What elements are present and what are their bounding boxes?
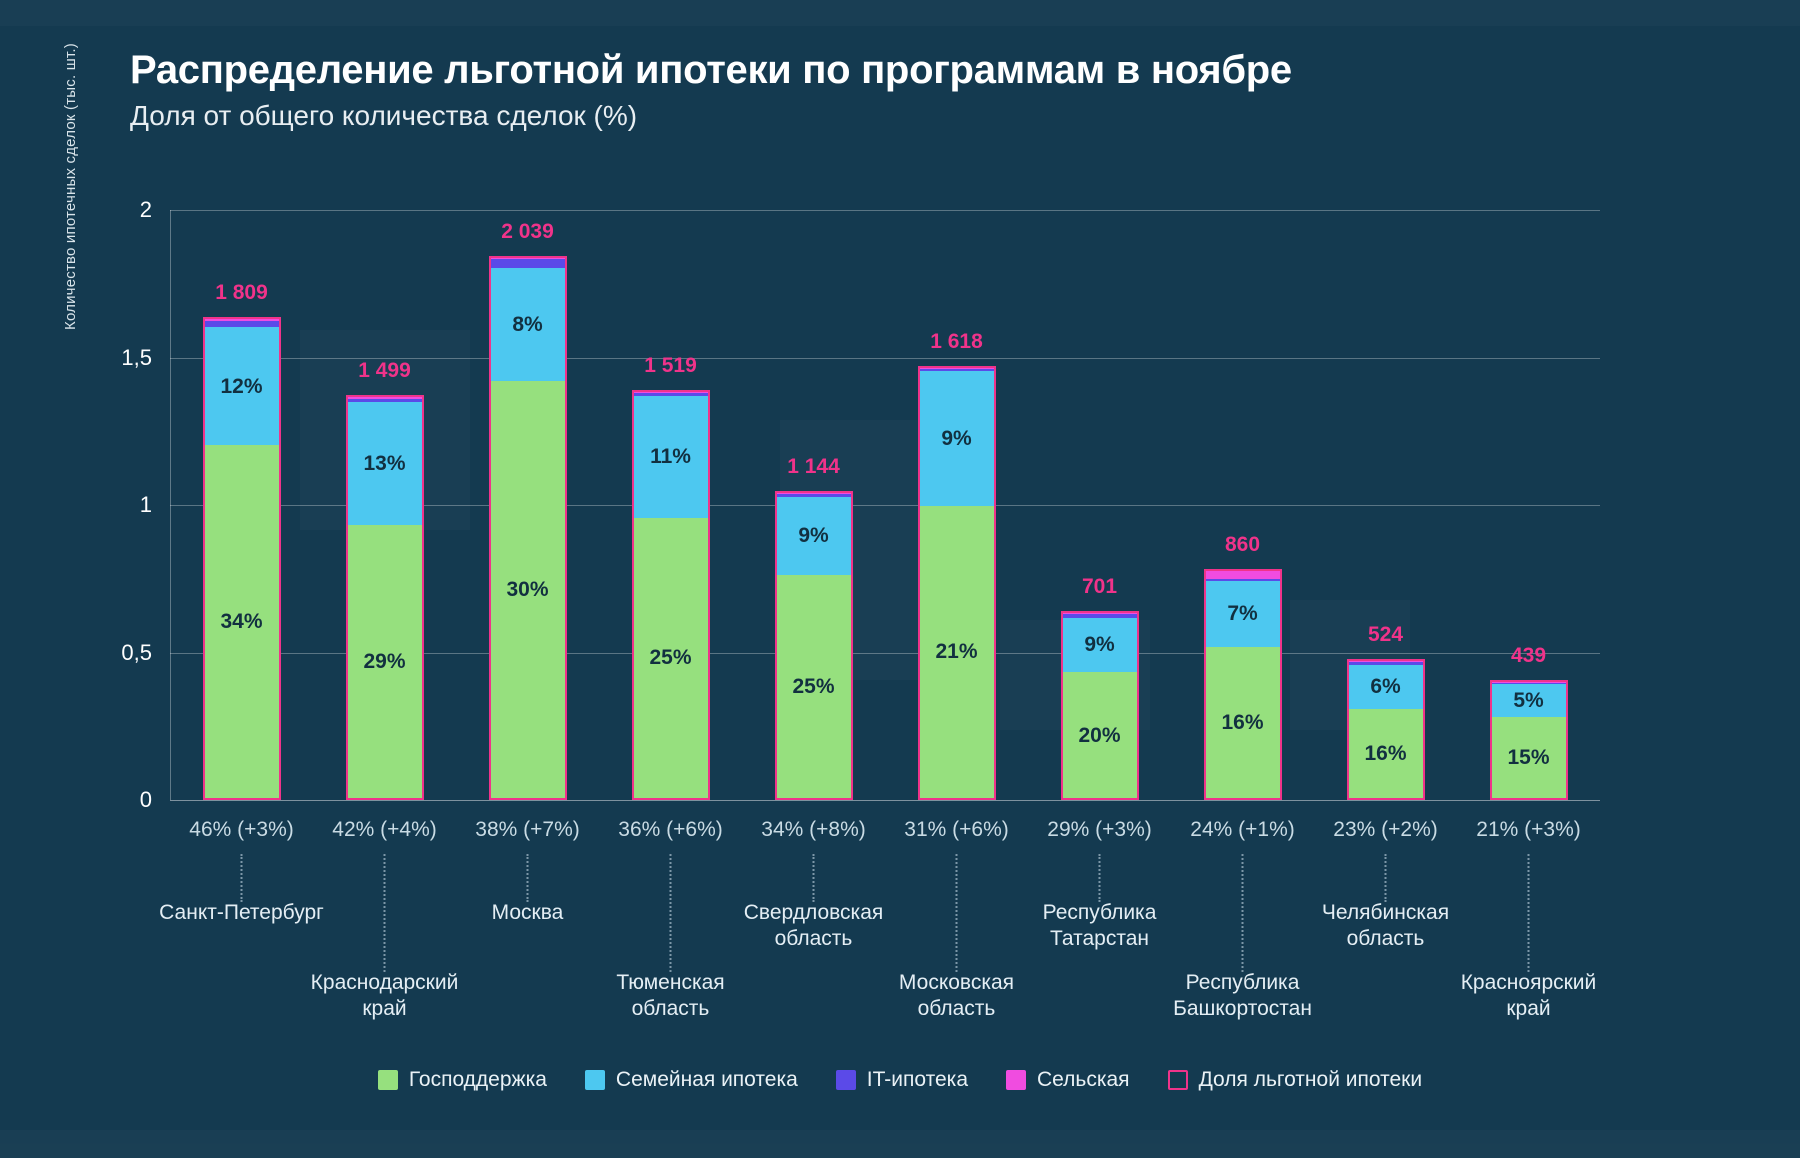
x-category-label: Москва: [423, 900, 633, 926]
label-leader-line: [1241, 854, 1244, 972]
chart-legend: ГосподдержкаСемейная ипотекаIT-ипотекаСе…: [0, 1068, 1800, 1092]
legend-item[interactable]: Семейная ипотека: [585, 1068, 798, 1092]
x-share-label: 29% (+3%): [1047, 818, 1151, 842]
label-leader-line: [1384, 854, 1387, 902]
legend-item[interactable]: Сельская: [1006, 1068, 1130, 1092]
legend-item[interactable]: Господдержка: [378, 1068, 547, 1092]
label-leader-line: [1098, 854, 1101, 902]
legend-label: IT-ипотека: [867, 1068, 968, 1092]
legend-item[interactable]: Доля льготной ипотеки: [1168, 1068, 1423, 1092]
label-leader-line: [526, 854, 529, 902]
x-share-label: 42% (+4%): [332, 818, 436, 842]
x-share-label: 21% (+3%): [1476, 818, 1580, 842]
legend-swatch-icon: [836, 1070, 856, 1090]
legend-item[interactable]: IT-ипотека: [836, 1068, 968, 1092]
x-share-label: 23% (+2%): [1333, 818, 1437, 842]
legend-label: Сельская: [1037, 1068, 1130, 1092]
label-leader-line: [669, 854, 672, 972]
label-leader-line: [812, 854, 815, 902]
x-category-label: Республика Татарстан: [995, 900, 1205, 953]
x-share-label: 31% (+6%): [904, 818, 1008, 842]
x-category-label: Тюменская область: [566, 970, 776, 1023]
x-share-label: 34% (+8%): [761, 818, 865, 842]
legend-label: Семейная ипотека: [616, 1068, 798, 1092]
x-category-label: Московская область: [852, 970, 1062, 1023]
x-share-label: 46% (+3%): [189, 818, 293, 842]
x-category-label: Красноярский край: [1424, 970, 1634, 1023]
x-category-label: Республика Башкортостан: [1138, 970, 1348, 1023]
legend-swatch-icon: [1006, 1070, 1026, 1090]
x-axis-labels: 46% (+3%)Санкт-Петербург42% (+4%)Краснод…: [0, 0, 1800, 1158]
x-share-label: 38% (+7%): [475, 818, 579, 842]
chart-page: Распределение льготной ипотеки по програ…: [0, 0, 1800, 1158]
legend-swatch-icon: [1168, 1070, 1188, 1090]
x-category-label: Свердловская область: [709, 900, 919, 953]
x-category-label: Краснодарский край: [280, 970, 490, 1023]
x-share-label: 36% (+6%): [618, 818, 722, 842]
legend-label: Доля льготной ипотеки: [1199, 1068, 1423, 1092]
legend-swatch-icon: [378, 1070, 398, 1090]
legend-swatch-icon: [585, 1070, 605, 1090]
legend-label: Господдержка: [409, 1068, 547, 1092]
label-leader-line: [1527, 854, 1530, 972]
label-leader-line: [240, 854, 243, 902]
x-category-label: Санкт-Петербург: [137, 900, 347, 926]
x-share-label: 24% (+1%): [1190, 818, 1294, 842]
label-leader-line: [955, 854, 958, 972]
x-category-label: Челябинская область: [1281, 900, 1491, 953]
label-leader-line: [383, 854, 386, 972]
